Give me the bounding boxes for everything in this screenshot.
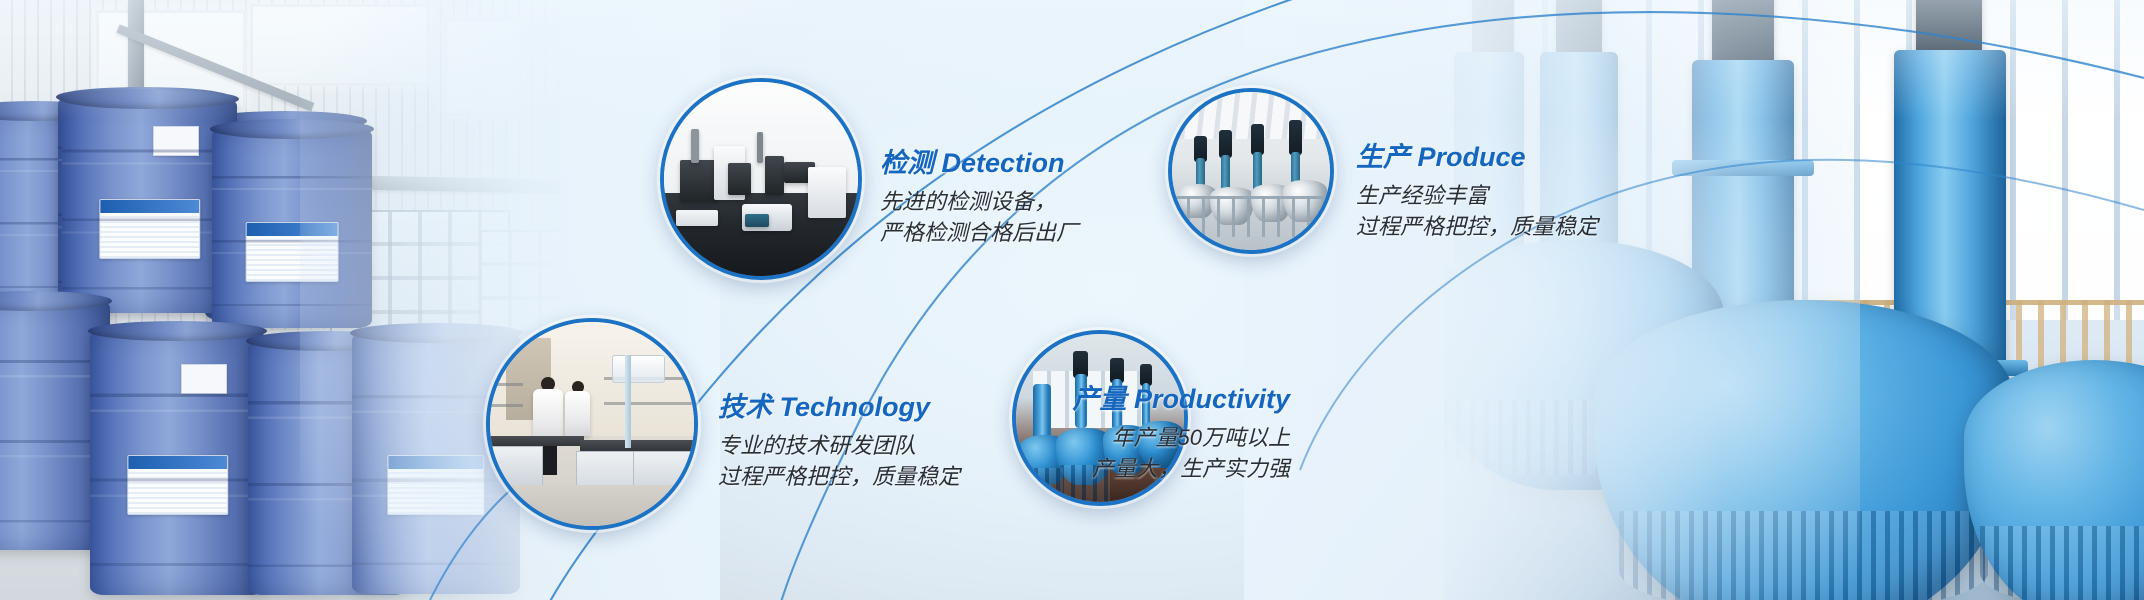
laboratory-testing-equipment-photo (664, 82, 858, 276)
decorative-arc-lines (0, 0, 2144, 600)
feature-photo-produce[interactable] (1168, 88, 1334, 254)
feature-title-detection: 检测 Detection (880, 148, 1078, 179)
feature-text-productivity: 产量 Productivity 年产量50万吨以上 产量大，生产实力强 (880, 384, 1290, 485)
company-strength-banner: 检测 Detection 先进的检测设备， 严格检测合格后出厂 生产 Produ… (0, 0, 2144, 600)
arc-line-mid (778, 12, 2144, 600)
production-hall-tanks-photo (1172, 92, 1330, 250)
feature-title-productivity: 产量 Productivity (880, 384, 1290, 415)
feature-line: 过程严格把控，质量稳定 (1356, 211, 1598, 242)
feature-line: 生产经验丰富 (1356, 180, 1598, 211)
feature-photo-detection[interactable] (660, 78, 862, 280)
rnd-laboratory-researchers-photo (490, 322, 694, 526)
feature-text-detection: 检测 Detection 先进的检测设备， 严格检测合格后出厂 (880, 148, 1078, 249)
feature-line: 产量大，生产实力强 (880, 453, 1290, 484)
feature-text-produce: 生产 Produce 生产经验丰富 过程严格把控，质量稳定 (1356, 142, 1598, 243)
feature-title-produce: 生产 Produce (1356, 142, 1598, 173)
feature-line: 先进的检测设备， (880, 186, 1078, 217)
feature-photo-technology[interactable] (486, 318, 698, 530)
feature-line: 严格检测合格后出厂 (880, 217, 1078, 248)
feature-line: 年产量50万吨以上 (880, 422, 1290, 453)
